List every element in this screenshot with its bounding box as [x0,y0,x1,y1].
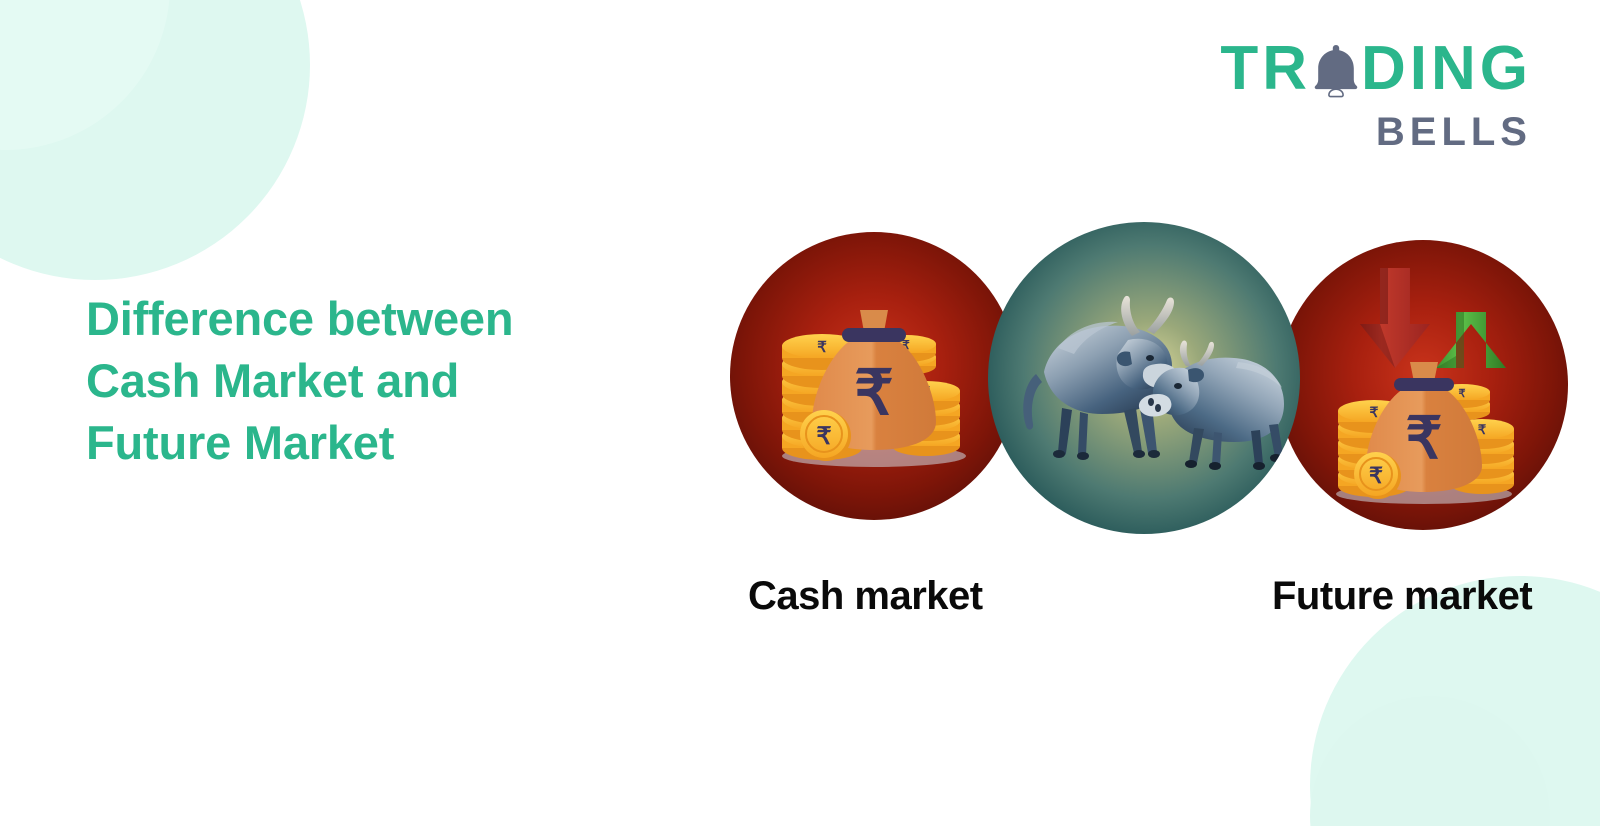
future-market-bubble: ₹ [1278,240,1568,530]
svg-text:₹: ₹ [1369,463,1383,488]
svg-text:₹: ₹ [854,359,893,428]
logo-text-after-bell: DING [1361,38,1532,100]
svg-text:₹: ₹ [1370,404,1379,420]
decor-circle-top-left-small [0,0,170,150]
logo-wordmark: TR DING [1220,38,1532,100]
bull-icon [988,222,1300,534]
page-title-line-1: Difference between [86,288,646,350]
svg-text:₹: ₹ [816,423,831,450]
page-title: Difference between Cash Market and Futur… [86,288,646,474]
brand-logo[interactable]: TR DING BELLS [1220,38,1532,152]
bell-icon [1313,42,1359,100]
illustration-cluster: ₹ [730,222,1570,562]
svg-text:₹: ₹ [1459,388,1466,400]
bull-left [1023,296,1178,460]
money-bag-with-arrows: ₹ [1278,240,1568,530]
logo-text-before-bell: TR [1220,38,1311,100]
logo-subtitle: BELLS [1220,112,1532,152]
arrow-up-icon [1436,312,1506,368]
decor-circle-bottom-right-small [1310,696,1550,826]
page-title-line-2: Cash Market and [86,350,646,412]
page-title-line-3: Future Market [86,412,646,474]
decor-circle-top-left-large [0,0,310,280]
caption-future-market: Future market [1272,574,1532,619]
caption-cash-market: Cash market [748,574,983,619]
money-bag-icon: ₹ [730,232,1018,520]
cash-market-bubble: ₹ [730,232,1018,520]
bulls-bubble [988,222,1300,534]
svg-text:₹: ₹ [817,339,827,356]
svg-text:₹: ₹ [1406,406,1443,471]
slide-canvas: TR DING BELLS Difference between Cash Ma… [0,0,1600,826]
arrow-down-icon [1360,268,1430,368]
svg-text:₹: ₹ [1478,422,1487,437]
